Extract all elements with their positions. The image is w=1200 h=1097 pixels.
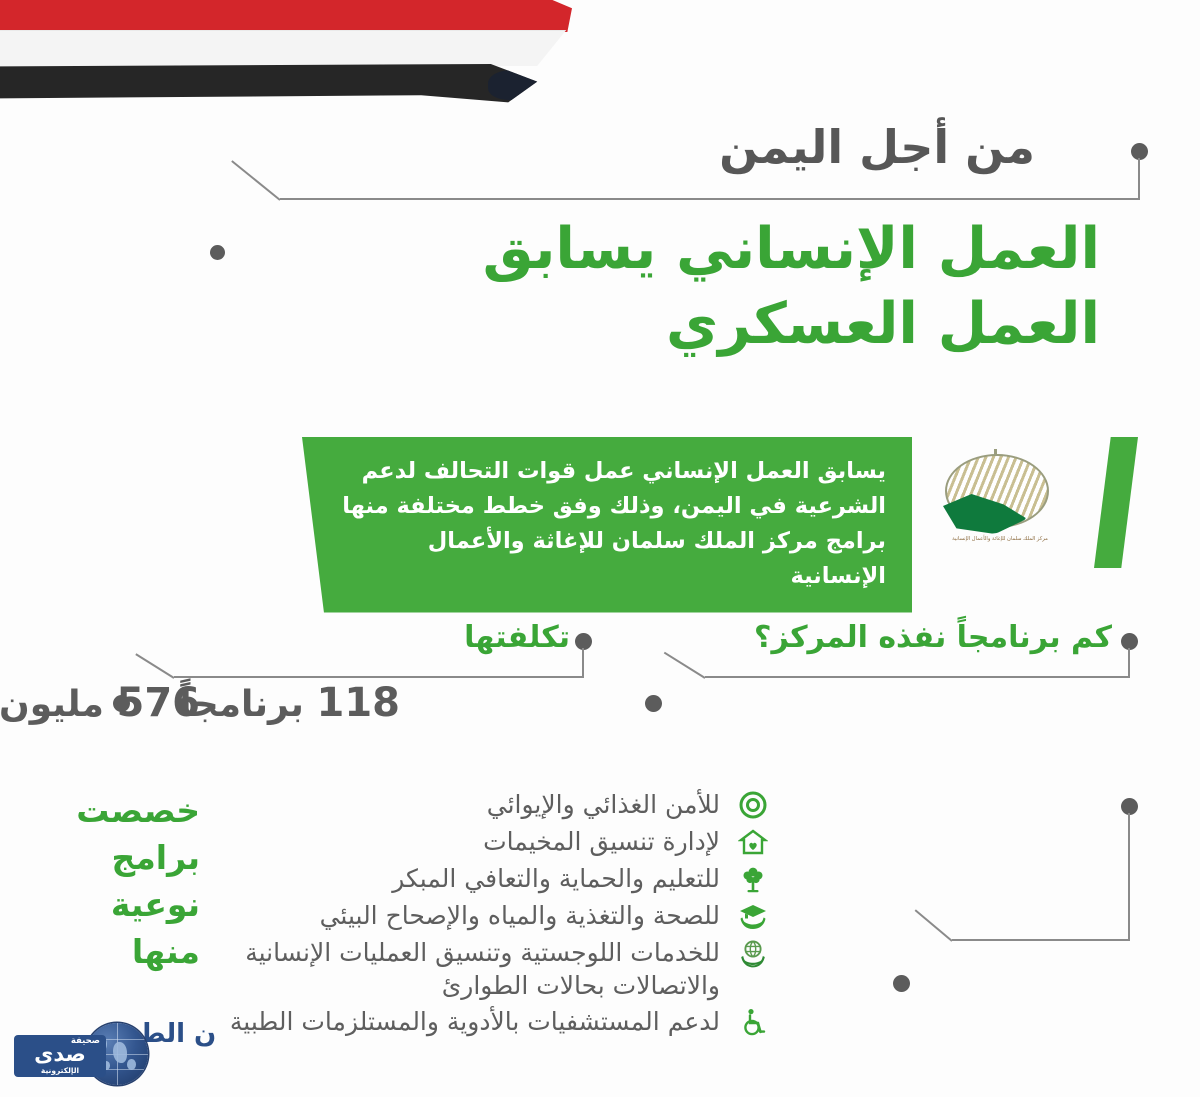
flag-band-red: [0, 0, 572, 32]
graduation-hands-icon: [736, 899, 770, 933]
stat-label-cost: تكلفتها: [464, 620, 570, 655]
eyebrow-label: من أجل اليمن: [719, 120, 1035, 174]
ksrelief-logo: مركز الملك سلمان للإغاثة والأعمال الإنسا…: [927, 452, 1072, 564]
wheelchair-icon: [736, 1005, 770, 1039]
green-slash-accent: [1094, 437, 1138, 568]
list-item: للأمن الغذائي والإيوائي: [150, 788, 770, 822]
list-item: للصحة والتغذية والمياه والإصحاح البيئي: [150, 899, 770, 933]
connector-line-cost-diagonal: [135, 653, 174, 679]
globe-hands-icon: [736, 936, 770, 970]
flag-band-black: [0, 64, 572, 104]
list-item-label: للخدمات اللوجستية وتنسيق العمليات الإنسا…: [160, 936, 720, 1002]
yemen-flag-icon: [0, 0, 572, 106]
watermark-brand: صدى: [14, 1044, 106, 1065]
allocation-list: للأمن الغذائي والإيوائي لإدارة تنسيق الم…: [150, 788, 770, 1042]
headline-line-2: العمل العسكري: [260, 287, 1100, 362]
logo-caption: مركز الملك سلمان للإغاثة والأعمال الإنسا…: [931, 536, 1069, 544]
connector-line-programs-vertical: [1128, 648, 1130, 678]
connector-line-programs-horizontal: [705, 676, 1130, 678]
connector-dot-programs-end: [645, 695, 662, 712]
connector-line-eyebrow-vertical: [1138, 158, 1140, 200]
stat-value-cost: 576 مليون دولار: [0, 680, 200, 726]
connector-line-allocation-diagonal: [915, 909, 953, 941]
connector-line-cost-vertical: [582, 648, 584, 678]
connector-line-eyebrow-diagonal: [231, 160, 280, 201]
stat-number-cost: 576: [117, 680, 201, 726]
ring-circle-icon: [736, 788, 770, 822]
connector-dot-allocation-end: [893, 975, 910, 992]
connector-line-allocation-horizontal: [952, 939, 1130, 941]
watermark-plate: صحيفة صدى الإلكترونية: [14, 1035, 106, 1077]
stat-unit-cost: مليون دولار: [0, 684, 104, 725]
list-item-label: للصحة والتغذية والمياه والإصحاح البيئي: [320, 899, 720, 932]
list-item-label: لإدارة تنسيق المخيمات: [483, 825, 720, 858]
sada-watermark: ن الطبية صحيفة صدى الإلكترونية: [8, 1015, 168, 1093]
list-item: لإدارة تنسيق المخيمات: [150, 825, 770, 859]
home-heart-icon: [736, 825, 770, 859]
summary-banner: يسابق العمل الإنساني عمل قوات التحالف لد…: [302, 437, 912, 613]
headline-line-1: العمل الإنساني يسابق: [260, 212, 1100, 287]
connector-line-eyebrow-horizontal: [280, 198, 1140, 200]
connector-line-allocation-vertical: [1128, 813, 1130, 941]
list-item-label: لدعم المستشفيات بالأدوية والمستلزمات الط…: [230, 1005, 720, 1038]
stat-label-programs: كم برنامجاً نفذه المركز؟: [754, 620, 1112, 655]
connector-line-cost-horizontal: [174, 676, 584, 678]
stat-value-programs: 118 برنامجاً: [179, 680, 400, 726]
list-item-label: للأمن الغذائي والإيوائي: [487, 788, 720, 821]
list-item: لدعم المستشفيات بالأدوية والمستلزمات الط…: [150, 1005, 770, 1039]
flag-band-white: [0, 30, 572, 66]
list-item: للخدمات اللوجستية وتنسيق العمليات الإنسا…: [150, 936, 770, 1002]
connector-dot-headline: [210, 245, 225, 260]
infographic-poster: من أجل اليمن العمل الإنساني يسابق العمل …: [0, 0, 1200, 1097]
connector-line-programs-diagonal: [664, 652, 706, 679]
page-title: العمل الإنساني يسابق العمل العسكري: [260, 212, 1100, 362]
watermark-bottom-text: الإلكترونية: [14, 1066, 106, 1075]
tree-icon: [736, 862, 770, 896]
stat-number-programs: 118: [317, 680, 401, 726]
list-item-label: للتعليم والحماية والتعافي المبكر: [392, 862, 720, 895]
list-item: للتعليم والحماية والتعافي المبكر: [150, 862, 770, 896]
